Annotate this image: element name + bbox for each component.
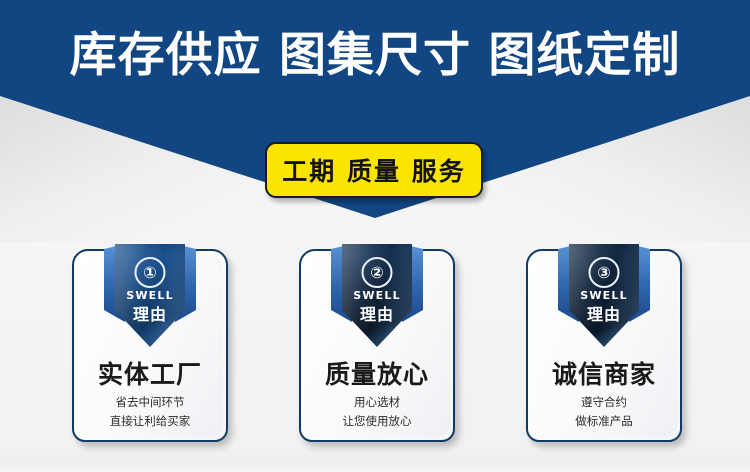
reason-label: 理由	[331, 301, 423, 325]
feature-card[interactable]: ① SWELL 理由 实体工厂 省去中间环节 直接让利给买家	[72, 249, 228, 442]
card-subtitle: 省去中间环节 直接让利给买家	[74, 393, 226, 431]
card-subtitle-line2: 直接让利给买家	[74, 412, 226, 431]
shield-badge: ① SWELL 理由	[104, 244, 196, 349]
card-title: 实体工厂	[74, 355, 226, 391]
card-title: 质量放心	[301, 355, 453, 391]
card-subtitle: 用心选材 让您使用放心	[301, 393, 453, 431]
shield-badge: ② SWELL 理由	[331, 244, 423, 349]
highlight-pill[interactable]: 工期 质量 服务	[265, 142, 483, 198]
rank-number-icon: ①	[135, 257, 166, 288]
reason-label: 理由	[558, 301, 650, 325]
card-subtitle-line2: 让您使用放心	[301, 412, 453, 431]
card-subtitle-line1: 用心选材	[301, 393, 453, 412]
promo-banner-stage: 库存供应 图集尺寸 图纸定制 工期 质量 服务 ① SWELL 理由 实体工厂 …	[0, 0, 750, 472]
card-subtitle-line1: 遵守合约	[528, 393, 680, 412]
rank-number-icon: ③	[589, 257, 620, 288]
feature-card-list: ① SWELL 理由 实体工厂 省去中间环节 直接让利给买家 ② SWELL 理…	[0, 0, 750, 472]
card-subtitle-line2: 做标准产品	[528, 412, 680, 431]
feature-card[interactable]: ③ SWELL 理由 诚信商家 遵守合约 做标准产品	[526, 249, 682, 442]
card-title: 诚信商家	[528, 355, 680, 391]
rank-number-icon: ②	[362, 257, 393, 288]
highlight-pill-label: 工期 质量 服务	[282, 152, 465, 188]
shield-badge: ③ SWELL 理由	[558, 244, 650, 349]
reason-label: 理由	[104, 301, 196, 325]
card-subtitle-line1: 省去中间环节	[74, 393, 226, 412]
feature-card[interactable]: ② SWELL 理由 质量放心 用心选材 让您使用放心	[299, 249, 455, 442]
card-subtitle: 遵守合约 做标准产品	[528, 393, 680, 431]
